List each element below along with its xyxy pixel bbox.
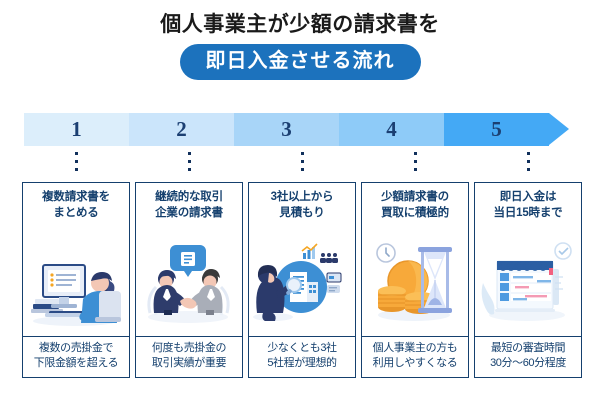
card-caption-line1: 個人事業主の方も xyxy=(363,341,467,357)
step-number-4: 4 xyxy=(386,117,397,142)
illustration-handshake-with-document-bubble xyxy=(136,225,242,336)
card-caption-4: 個人事業主の方も 利用しやすくなる xyxy=(362,336,468,377)
step-segment-5: 5 xyxy=(444,113,549,146)
step-segment-3: 3 xyxy=(234,113,339,146)
card-caption-1: 複数の売掛金で 下限金額を超える xyxy=(23,336,129,377)
illustration-desk-calendar xyxy=(475,225,581,336)
illustration-person-with-magnifier-and-documents xyxy=(249,225,355,336)
step-card-1: 複数請求書を まとめる xyxy=(22,182,130,378)
connector-dots-1 xyxy=(75,152,78,176)
card-title-line1: 即日入金は xyxy=(477,190,579,206)
card-title-5: 即日入金は 当日15時まで xyxy=(475,183,581,225)
dot xyxy=(75,160,78,163)
step-number-3: 3 xyxy=(281,117,292,142)
card-title-4: 少額請求書の 買取に積極的 xyxy=(362,183,468,225)
card-title-line1: 少額請求書の xyxy=(364,190,466,206)
mini-people-icon xyxy=(320,253,338,263)
card-title-line2: 企業の請求書 xyxy=(138,206,240,222)
step-number-1: 1 xyxy=(71,117,82,142)
card-caption-line2: 5社程が理想的 xyxy=(250,356,354,372)
card-caption-3: 少なくとも3社 5社程が理想的 xyxy=(249,336,355,377)
infographic-root: 個人事業主が少額の請求書を 即日入金させる流れ 1 2 3 4 5 xyxy=(0,0,600,400)
dot xyxy=(527,160,530,163)
card-title-line2: 当日15時まで xyxy=(477,206,579,222)
header: 個人事業主が少額の請求書を 即日入金させる流れ xyxy=(0,12,600,80)
dot xyxy=(301,168,304,171)
card-caption-line1: 複数の売掛金で xyxy=(24,341,128,357)
card-title-line2: 買取に積極的 xyxy=(364,206,466,222)
connector-dots-4 xyxy=(414,152,417,176)
dot xyxy=(188,168,191,171)
dot xyxy=(301,152,304,155)
card-title-1: 複数請求書を まとめる xyxy=(23,183,129,225)
card-caption-line1: 最短の審査時間 xyxy=(476,341,580,357)
card-caption-line2: 利用しやすくなる xyxy=(363,356,467,372)
subtitle-pill: 即日入金させる流れ xyxy=(180,44,421,80)
page-title: 個人事業主が少額の請求書を xyxy=(0,12,600,37)
step-card-2: 継続的な取引 企業の請求書 xyxy=(135,182,243,378)
card-title-3: 3社以上から 見積もり xyxy=(249,183,355,225)
dot xyxy=(527,152,530,155)
dot xyxy=(188,152,191,155)
card-title-line1: 3社以上から xyxy=(251,190,353,206)
subtitle-pill-wrap: 即日入金させる流れ xyxy=(0,44,600,80)
card-caption-5: 最短の審査時間 30分〜60分程度 xyxy=(475,336,581,377)
step-card-5: 即日入金は 当日15時まで xyxy=(474,182,582,378)
illustration-coins-and-hourglass xyxy=(362,225,468,336)
step-number-2: 2 xyxy=(176,117,187,142)
connector-dots-2 xyxy=(188,152,191,176)
step-card-4: 少額請求書の 買取に積極的 xyxy=(361,182,469,378)
card-title-2: 継続的な取引 企業の請求書 xyxy=(136,183,242,225)
card-caption-line1: 何度も売掛金の xyxy=(137,341,241,357)
card-caption-line2: 30分〜60分程度 xyxy=(476,356,580,372)
card-title-line2: まとめる xyxy=(25,206,127,222)
illustration-person-at-desktop-computer xyxy=(23,225,129,336)
dot xyxy=(301,160,304,163)
step-segment-1: 1 xyxy=(24,113,129,146)
clock-icon xyxy=(377,244,395,262)
step-segment-4: 4 xyxy=(339,113,444,146)
card-title-line1: 継続的な取引 xyxy=(138,190,240,206)
dot xyxy=(75,168,78,171)
step-segment-2: 2 xyxy=(129,113,234,146)
card-caption-line2: 下限金額を超える xyxy=(24,356,128,372)
connector-dots-5 xyxy=(527,152,530,176)
step-band: 1 2 3 4 5 xyxy=(24,113,576,146)
dot xyxy=(414,168,417,171)
card-title-line2: 見積もり xyxy=(251,206,353,222)
dot xyxy=(527,168,530,171)
step-card-3: 3社以上から 見積もり xyxy=(248,182,356,378)
mini-chart-icon xyxy=(301,244,317,259)
connector-dots-3 xyxy=(301,152,304,176)
dot xyxy=(188,160,191,163)
check-circle-icon xyxy=(555,243,571,259)
mini-card-icon xyxy=(327,273,341,282)
step-number-5: 5 xyxy=(491,117,502,142)
dot xyxy=(75,152,78,155)
card-caption-line2: 取引実績が重要 xyxy=(137,356,241,372)
card-title-line1: 複数請求書を xyxy=(25,190,127,206)
dot xyxy=(414,152,417,155)
card-caption-line1: 少なくとも3社 xyxy=(250,341,354,357)
card-caption-2: 何度も売掛金の 取引実績が重要 xyxy=(136,336,242,377)
dot xyxy=(414,160,417,163)
arrow-tip-icon xyxy=(549,113,569,145)
